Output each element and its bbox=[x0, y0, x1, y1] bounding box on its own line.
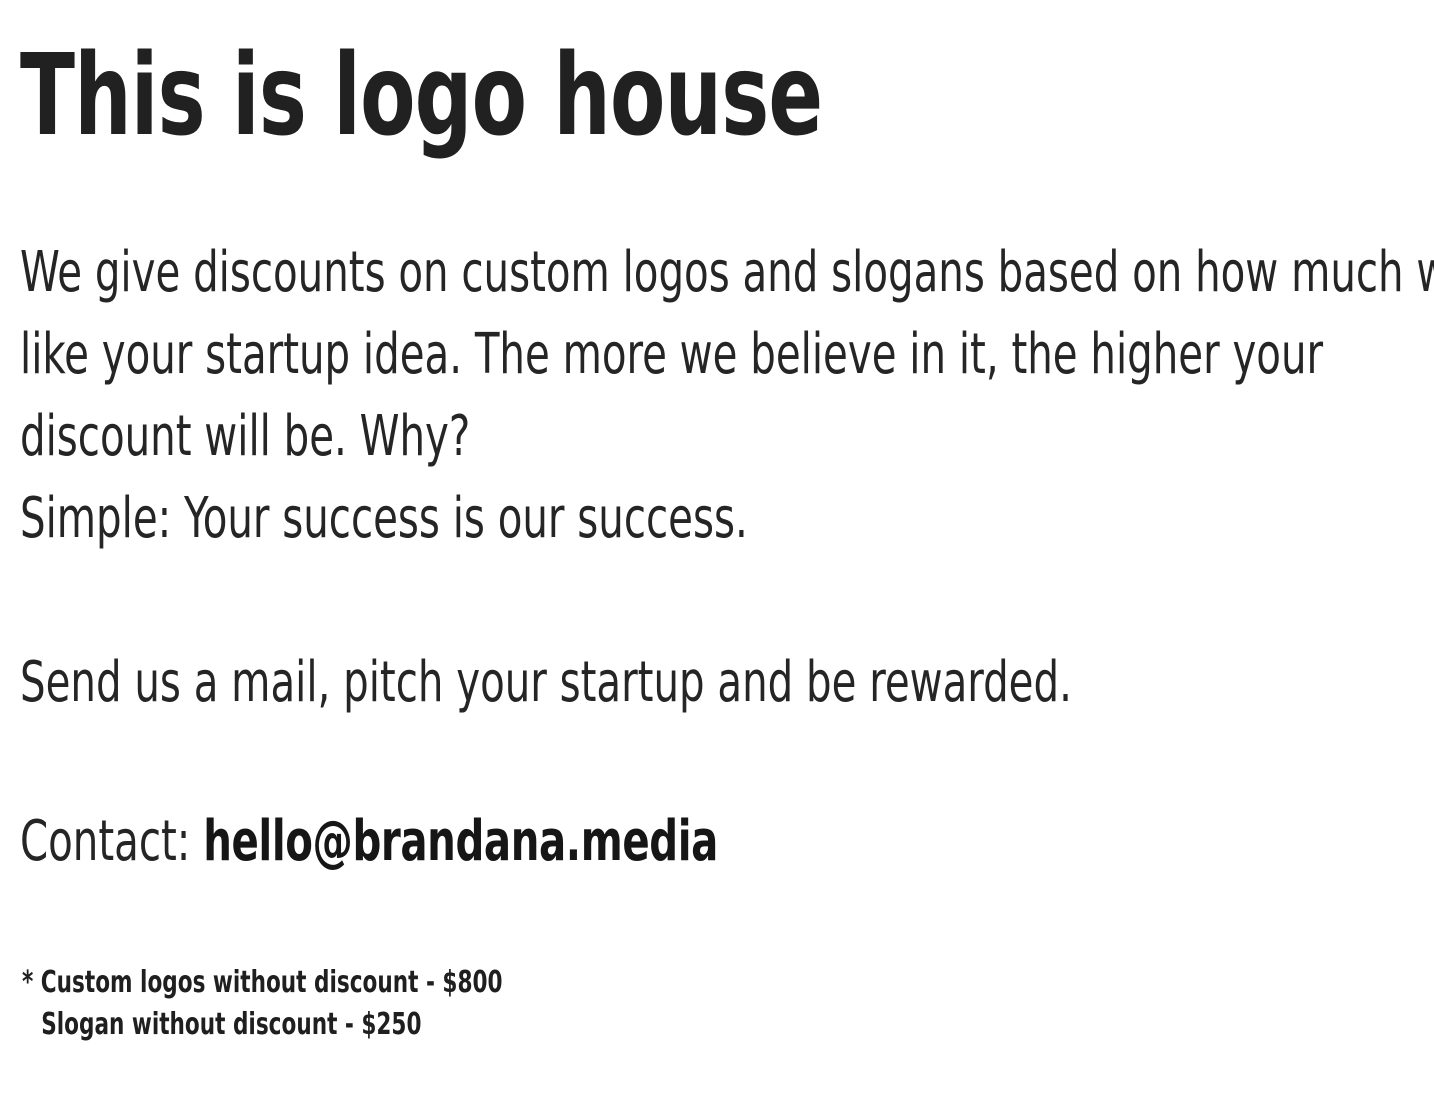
contact-email-address[interactable]: hello@brandana.media bbox=[203, 809, 718, 874]
footnote-block: * Custom logos without discount - $800 S… bbox=[22, 962, 503, 1046]
contact-label: Contact: bbox=[20, 809, 203, 874]
body-line-5: Send us a mail, pitch your startup and b… bbox=[20, 642, 1412, 724]
contact-line: Contact: hello@brandana.media bbox=[20, 806, 718, 878]
body-line-4: Simple: Your success is our success. bbox=[20, 478, 1412, 560]
footnote-line-1: * Custom logos without discount - $800 bbox=[22, 962, 503, 1004]
footnote-line-2: Slogan without discount - $250 bbox=[22, 1004, 503, 1046]
body-copy: We give discounts on custom logos and sl… bbox=[20, 232, 1412, 724]
body-line-3: discount will be. Why? bbox=[20, 396, 1412, 478]
poster-canvas: This is logo house We give discounts on … bbox=[0, 0, 1434, 1094]
body-line-1: We give discounts on custom logos and sl… bbox=[20, 232, 1412, 314]
body-line-2: like your startup idea. The more we beli… bbox=[20, 314, 1412, 396]
body-line-spacer bbox=[20, 560, 1412, 642]
page-title: This is logo house bbox=[20, 40, 822, 152]
